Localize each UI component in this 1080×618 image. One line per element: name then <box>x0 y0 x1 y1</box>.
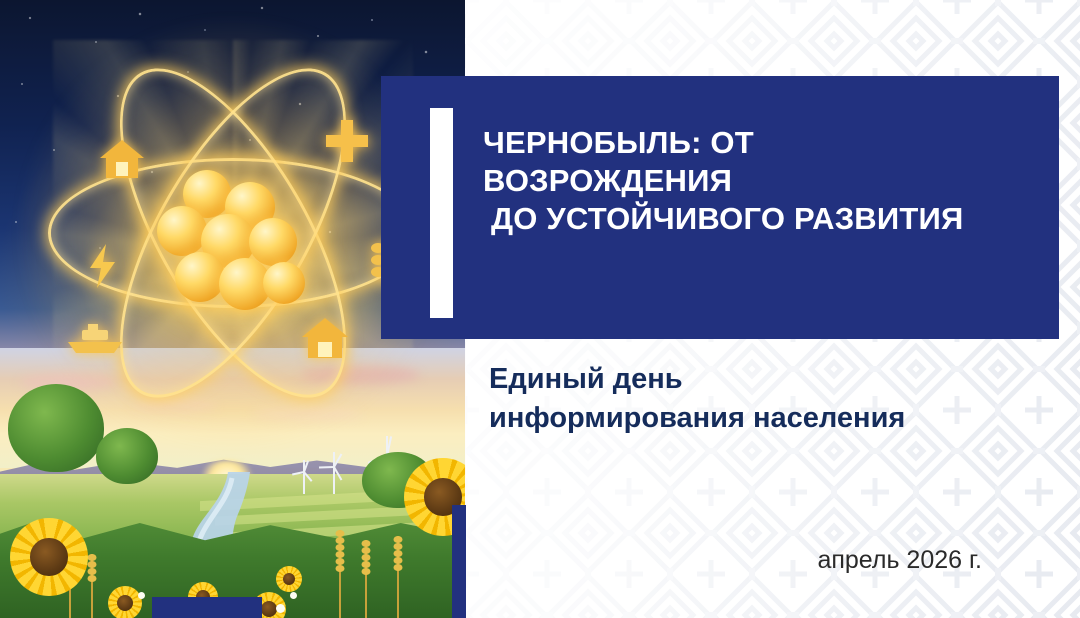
lightning-bolt-icon <box>84 242 120 290</box>
wheat-ear <box>360 540 372 618</box>
date-label: апрель 2026 г. <box>520 546 982 575</box>
title-line-1: ЧЕРНОБЫЛЬ: ОТ <box>483 124 1043 162</box>
subtitle-line-2: информирования населения <box>489 399 1009 438</box>
subtitle-line-1: Единый день <box>489 360 1009 399</box>
medical-cross-icon <box>324 118 370 164</box>
ship-icon <box>64 322 126 356</box>
sunflower <box>276 566 302 592</box>
title-accent-bar <box>430 108 453 318</box>
house-icon <box>300 314 350 360</box>
wheat-ear <box>334 530 346 618</box>
daisy <box>138 592 145 599</box>
page-title: ЧЕРНОБЫЛЬ: ОТ ВОЗРОЖДЕНИЯ ДО УСТОЙЧИВОГО… <box>483 124 1043 238</box>
wheat-ear <box>392 536 404 618</box>
subtitle: Единый день информирования населения <box>489 360 1009 438</box>
house-icon <box>98 136 146 180</box>
atom-symbol <box>36 36 430 430</box>
presentation-slide: ЧЕРНОБЫЛЬ: ОТ ВОЗРОЖДЕНИЯ ДО УСТОЙЧИВОГО… <box>0 0 1080 618</box>
title-line-2: ВОЗРОЖДЕНИЯ <box>483 162 1043 200</box>
atom-nucleus <box>151 166 316 316</box>
sunflower <box>108 586 142 618</box>
title-line-3: ДО УСТОЙЧИВОГО РАЗВИТИЯ <box>483 200 1043 238</box>
wind-turbine <box>296 460 312 494</box>
daisy <box>276 604 285 613</box>
sunflower <box>10 518 88 596</box>
accent-bar-right <box>452 505 466 618</box>
accent-bar-bottom <box>152 597 262 618</box>
daisy <box>290 592 297 599</box>
wind-turbine <box>324 452 344 494</box>
